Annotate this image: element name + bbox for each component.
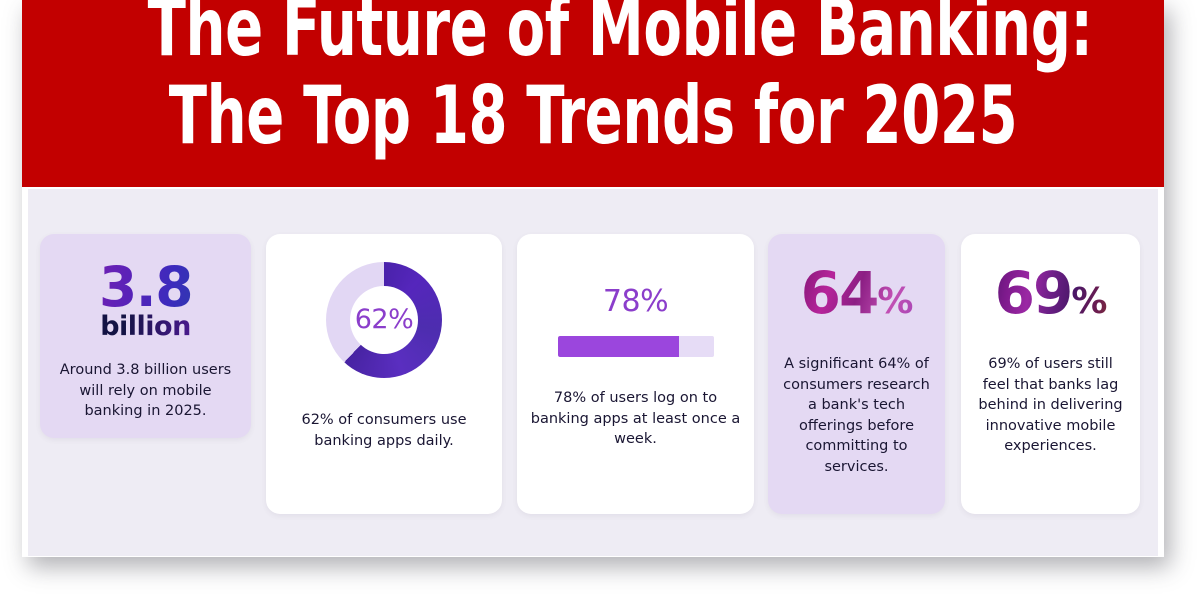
stat-description: 78% of users log on to banking apps at l…	[529, 388, 742, 450]
banner-title-line-2: The Top 18 Trends for 2025	[148, 72, 1039, 160]
stat-unit-billion: billion	[40, 312, 251, 342]
stat-card-69-percent[interactable]: 69% 69% of users still feel that banks l…	[961, 234, 1140, 514]
stat-number: 64	[801, 259, 878, 327]
progress-bar-track	[558, 336, 714, 357]
stat-description: 62% of consumers use banking apps daily.	[278, 410, 490, 451]
percent-sign: %	[1071, 281, 1106, 322]
stat-card-62-percent[interactable]: 62% 62% of consumers use banking apps da…	[266, 234, 502, 514]
header-banner: The Future of Mobile Banking: The Top 18…	[22, 0, 1164, 187]
infographic-root: The Future of Mobile Banking: The Top 18…	[0, 0, 1200, 600]
donut-center-label: 62%	[326, 303, 442, 337]
stat-number: 69	[995, 259, 1072, 327]
donut-chart: 62%	[326, 262, 442, 378]
percent-sign: %	[877, 281, 912, 322]
stat-description: Around 3.8 billion users will rely on mo…	[52, 360, 239, 422]
stat-description: 69% of users still feel that banks lag b…	[973, 354, 1128, 457]
stat-card-3-8-billion[interactable]: 3.8 billion Around 3.8 billion users wil…	[40, 234, 251, 438]
stat-card-64-percent[interactable]: 64% A significant 64% of consumers resea…	[768, 234, 945, 514]
stat-card-78-percent[interactable]: 78% 78% of users log on to banking apps …	[517, 234, 754, 514]
stat-card-row: 3.8 billion Around 3.8 billion users wil…	[40, 234, 1140, 514]
stat-value-69: 69%	[961, 262, 1140, 333]
stat-description: A significant 64% of consumers research …	[780, 354, 933, 477]
progress-value-label: 78%	[517, 284, 754, 320]
banner-title: The Future of Mobile Banking: The Top 18…	[148, 0, 1039, 160]
progress-bar-fill	[558, 336, 680, 357]
banner-title-line-1: The Future of Mobile Banking:	[148, 0, 1093, 74]
stat-value-3-8: 3.8	[40, 258, 251, 316]
stat-value-64: 64%	[768, 262, 945, 333]
